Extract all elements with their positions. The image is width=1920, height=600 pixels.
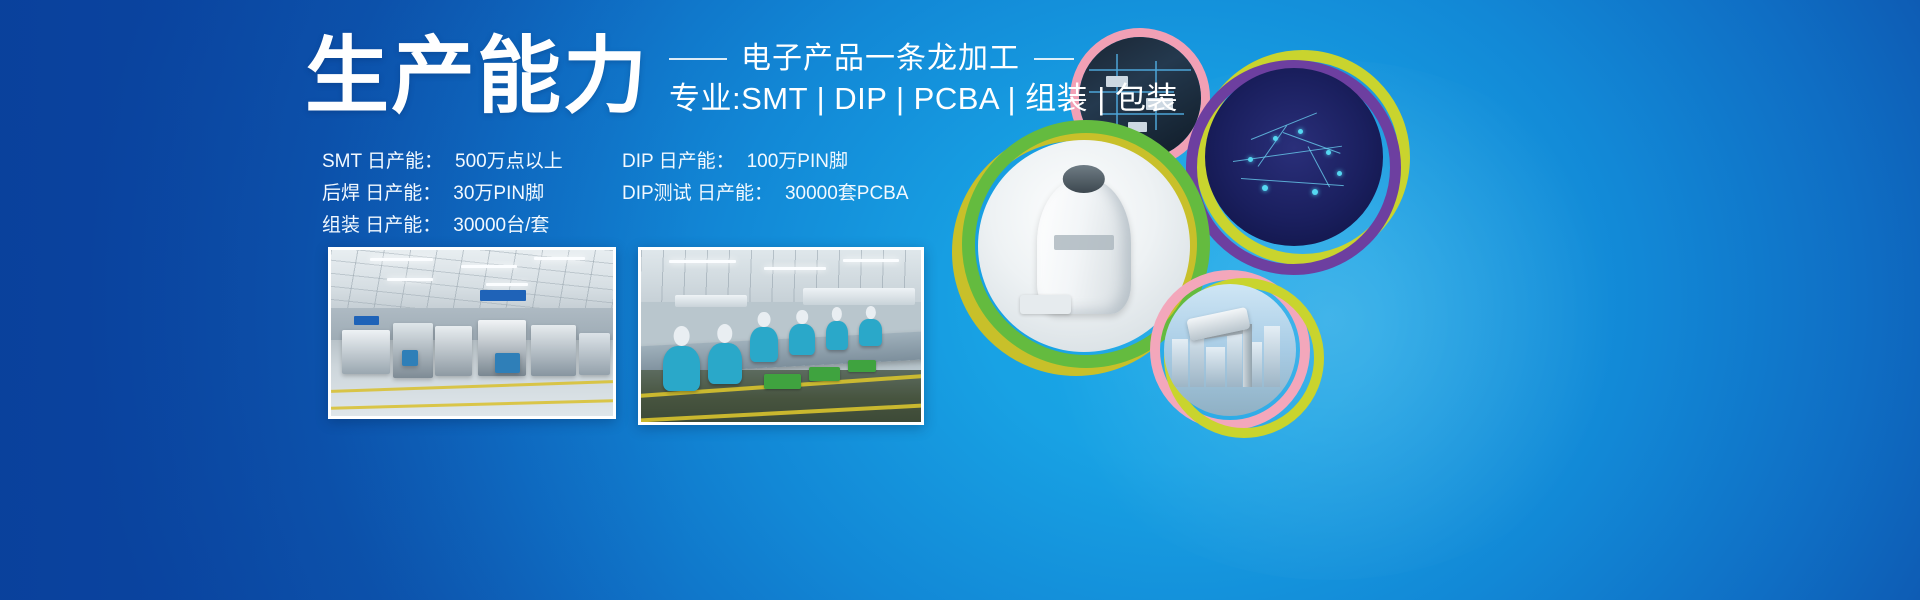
spec-row: DIP 日产能： 100万PIN脚 [622, 146, 909, 178]
ceiling-light [461, 265, 517, 268]
ceiling-light [387, 278, 432, 281]
parts-bin [764, 374, 800, 389]
spec-label: SMT 日产能： [322, 146, 443, 178]
air-fryer-handle [1020, 295, 1071, 314]
wall-sign [354, 316, 379, 324]
subtitle-top: 电子产品一条龙加工 [741, 42, 1020, 75]
spec-row: SMT 日产能： 500万点以上 [322, 146, 622, 178]
worker-head [832, 307, 842, 320]
city-building [1206, 347, 1224, 387]
subtitle-top-row: 电子产品一条龙加工 [669, 42, 1178, 75]
worker-head [865, 306, 875, 319]
spec-label: DIP 日产能： [622, 146, 735, 178]
wireframe-edge [1258, 125, 1287, 166]
worker [826, 321, 848, 350]
worker-head [673, 326, 690, 347]
ceiling-light [669, 260, 736, 263]
city-building [1172, 339, 1188, 387]
wall-sign [480, 290, 525, 302]
spec-value: 500万点以上 [455, 146, 563, 178]
machine-panel [402, 350, 419, 367]
ceiling-light [534, 257, 585, 260]
parts-bin [809, 367, 840, 381]
subtitle-block: 电子产品一条龙加工 专业:SMT | DIP | PCBA | 组装 | 包装 [669, 22, 1178, 117]
machine [342, 330, 390, 375]
ceiling-light [764, 267, 826, 270]
worker [859, 319, 881, 347]
worker [789, 324, 814, 355]
air-fryer-panel [1054, 235, 1113, 250]
production-capability-banner: 生产能力 电子产品一条龙加工 专业:SMT | DIP | PCBA | 组装 … [0, 0, 1920, 600]
worker [663, 346, 699, 391]
machine [531, 325, 576, 376]
assembly-scene [641, 250, 921, 422]
spec-label: 组装 日产能： [322, 210, 441, 242]
wireframe-node [1262, 185, 1268, 191]
worker-head [758, 312, 771, 328]
capacity-spec-list: SMT 日产能： 500万点以上 后焊 日产能： 30万PIN脚 组装 日产能：… [322, 146, 909, 242]
divider-rule-left [669, 58, 727, 60]
spec-value: 30000台/套 [453, 210, 549, 242]
ceiling-light [370, 258, 432, 261]
air-fryer-knob [1063, 165, 1105, 193]
camera-pole [1243, 324, 1252, 387]
ceiling-light [843, 259, 899, 262]
spec-value: 30万PIN脚 [453, 178, 544, 210]
city-building [1227, 329, 1242, 387]
spec-value: 30000套PCBA [785, 178, 909, 210]
wireframe-node [1248, 157, 1253, 162]
exhaust-hood [803, 288, 915, 305]
headline-block: 生产能力 电子产品一条龙加工 专业:SMT | DIP | PCBA | 组装 … [305, 22, 1178, 118]
worker [708, 343, 742, 384]
smt-workshop-photo [328, 247, 616, 419]
worker-head [796, 310, 808, 324]
parts-bin [848, 360, 876, 372]
worker [750, 327, 778, 361]
machine [579, 333, 610, 375]
subtitle-bottom: 专业:SMT | DIP | PCBA | 组装 | 包装 [669, 81, 1178, 117]
spec-row: DIP测试 日产能： 30000套PCBA [622, 178, 909, 210]
ceiling-light [486, 283, 528, 286]
spec-label: DIP测试 日产能： [622, 178, 773, 210]
automotive-electronics-circle [1205, 68, 1383, 246]
exhaust-hood [675, 295, 748, 307]
page-title: 生产能力 [305, 22, 649, 118]
spec-value: 100万PIN脚 [747, 146, 848, 178]
city-building [1264, 326, 1280, 387]
machine-panel [495, 353, 520, 373]
spec-column-right: DIP 日产能： 100万PIN脚 DIP测试 日产能： 30000套PCBA [622, 146, 909, 242]
wireframe-node [1298, 129, 1303, 134]
divider-rule-right [1034, 58, 1074, 60]
smart-city-camera-circle [1164, 284, 1296, 416]
wireframe-node [1273, 136, 1278, 141]
spec-row: 组装 日产能： 30000台/套 [322, 210, 622, 242]
worker-head [717, 324, 732, 343]
machine [435, 326, 472, 376]
wireframe-node [1326, 150, 1331, 155]
assembly-line-photo [638, 247, 924, 425]
wireframe-node [1312, 189, 1318, 195]
spec-label: 后焊 日产能： [322, 178, 441, 210]
spec-column-left: SMT 日产能： 500万点以上 后焊 日产能： 30万PIN脚 组装 日产能：… [322, 146, 622, 242]
spec-row: 后焊 日产能： 30万PIN脚 [322, 178, 622, 210]
workshop-scene [331, 250, 613, 416]
wireframe-node [1337, 171, 1342, 176]
